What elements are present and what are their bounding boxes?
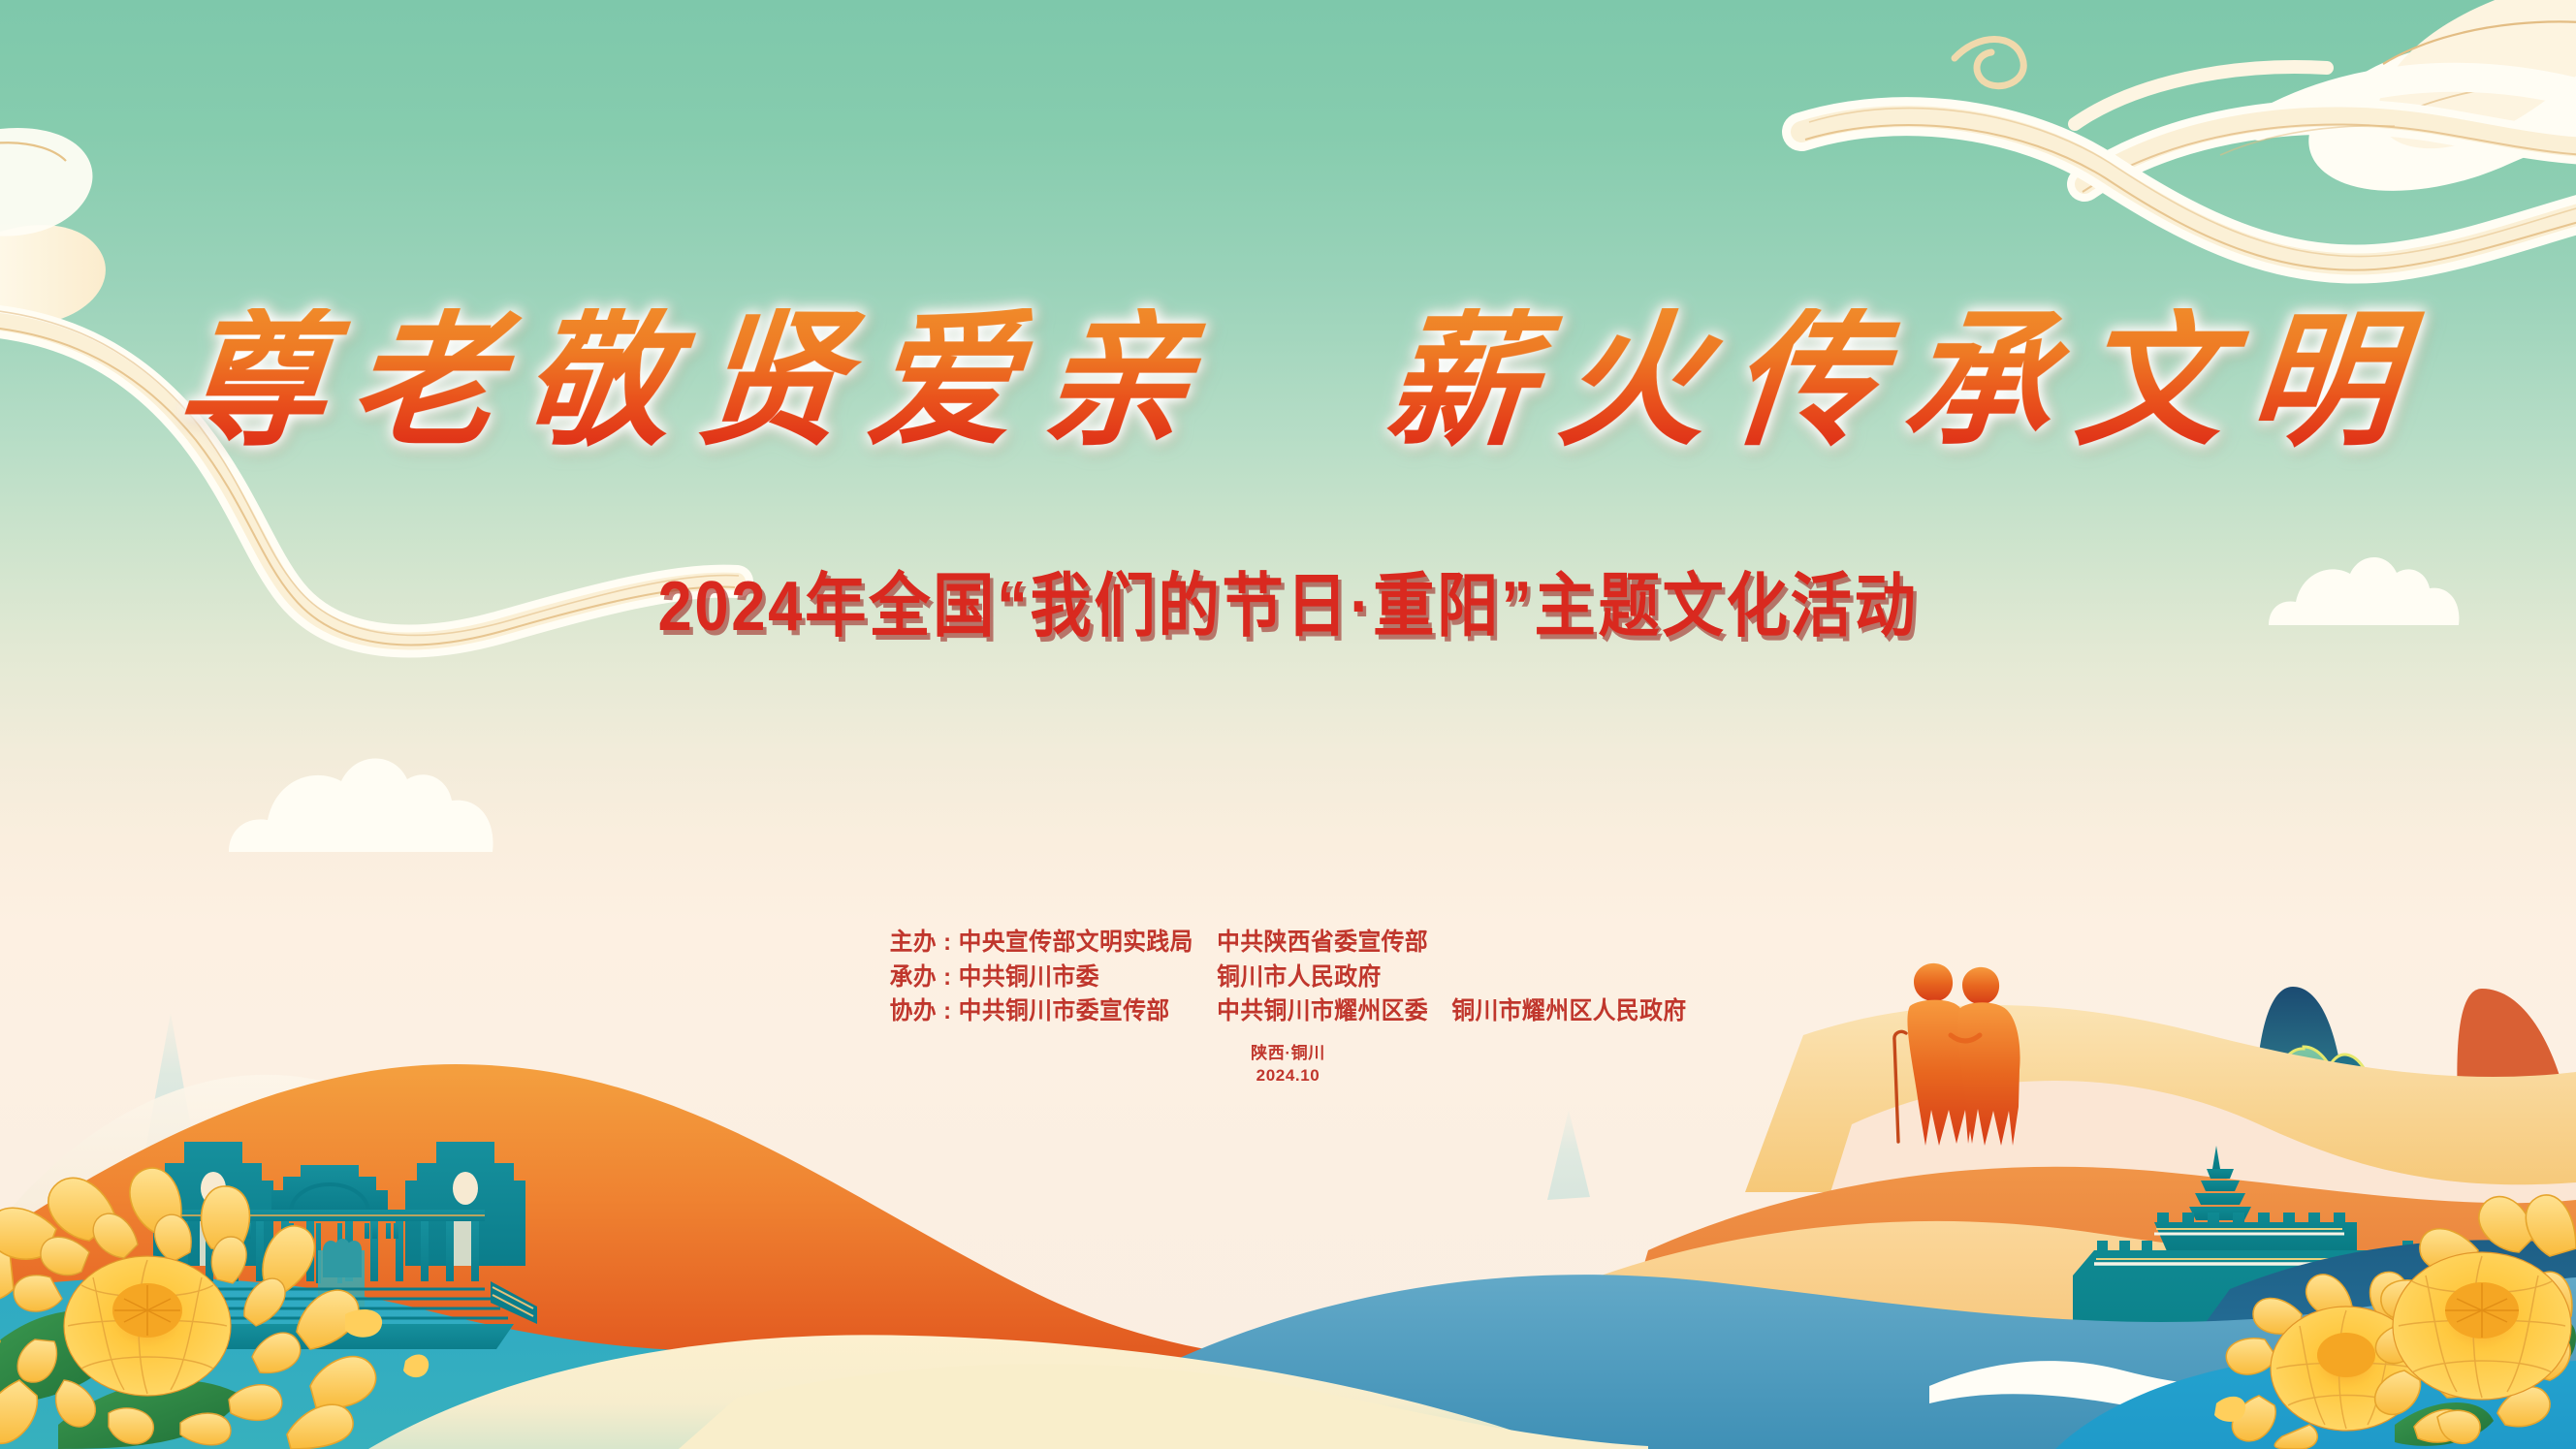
credits-block: 主办 : 中央宣传部文明实践局 中共陕西省委宣传部 承办 : 中共铜川市委 铜川… [0, 926, 2576, 1087]
poster-canvas: 尊老敬贤爱亲 薪火传承文明 2024年全国“我们的节日·重阳”主题文化活动 [0, 0, 2576, 1449]
falling-petal-icon-2 [403, 1354, 429, 1377]
falling-petal-icon-3 [2214, 1397, 2245, 1422]
event-date: 2024.10 [0, 1064, 2576, 1087]
organizer-line-coorganizer: 协办 : 中共铜川市委宣传部 中共铜川市耀州区委 铜川市耀州区人民政府 [890, 994, 1687, 1029]
organizer-line-host: 主办 : 中央宣传部文明实践局 中共陕西省委宣传部 [890, 926, 1687, 961]
organizer-line-organizer: 承办 : 中共铜川市委 铜川市人民政府 [890, 961, 1687, 995]
falling-petal-icon-1 [345, 1309, 382, 1338]
organizer-lines: 主办 : 中央宣传部文明实践局 中共陕西省委宣传部 承办 : 中共铜川市委 铜川… [890, 926, 1687, 1029]
chrysanthemum-icon-left [0, 1168, 429, 1449]
place-date-block: 陕西·铜川 2024.10 [0, 1042, 2576, 1087]
flower-layer [0, 0, 2576, 1449]
chrysanthemum-icon-right [2214, 1195, 2576, 1449]
event-place: 陕西·铜川 [0, 1042, 2576, 1064]
